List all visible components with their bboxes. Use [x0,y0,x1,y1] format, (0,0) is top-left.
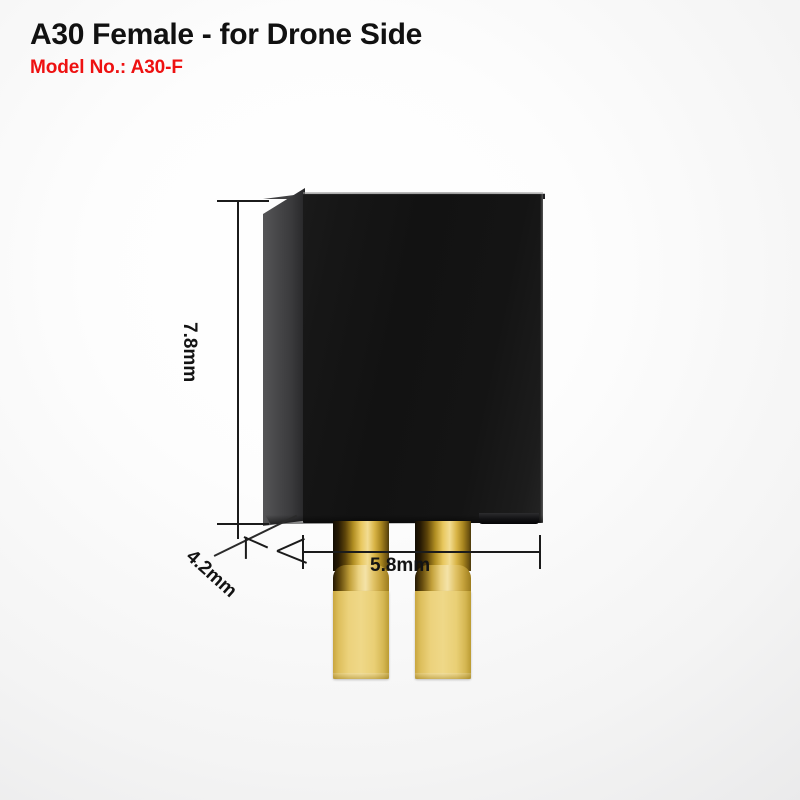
connector-body-front-face [303,194,543,523]
connector-illustration [0,0,800,800]
height-dimension-line [237,200,239,525]
height-dimension-label: 7.8mm [178,322,200,382]
depth-dimension-leader [237,525,239,539]
product-image-canvas: A30 Female - for Drone Side Model No.: A… [0,0,800,800]
connector-body-notch [479,513,539,524]
height-dimension-tick-top [217,200,269,202]
pin-blade [415,591,471,679]
depth-dimension-tick-upper [245,537,247,559]
width-dimension-line [302,551,540,553]
connector-body-left-face [263,188,305,526]
connector-body-top-edge-highlight [303,192,543,194]
gold-pin-right [415,521,471,679]
width-dimension-label: 5.8mm [370,555,430,577]
gold-pin-left [333,521,389,679]
pin-blade [333,591,389,679]
height-dimension-tick-bottom [217,523,269,525]
